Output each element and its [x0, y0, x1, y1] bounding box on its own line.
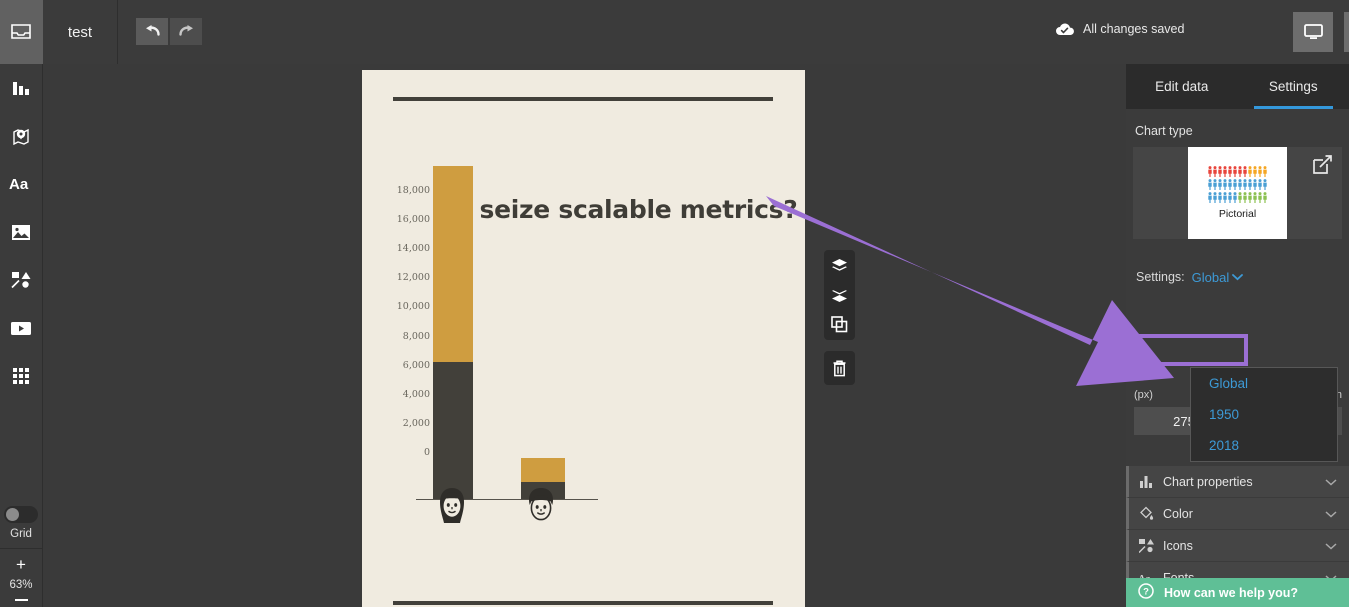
y-axis-tick: 2,000: [403, 418, 430, 429]
duplicate-icon: [831, 316, 848, 333]
accordion-label: Color: [1163, 507, 1193, 521]
grid-toggle[interactable]: [4, 506, 38, 523]
top-bar: test All change: [43, 0, 1349, 64]
edit-chart-type-button[interactable]: [1313, 155, 1332, 179]
y-axis-tick: 16,000: [397, 214, 430, 225]
chart-type-thumbnail[interactable]: Pictorial: [1188, 147, 1287, 239]
bar-chart-icon: [11, 79, 31, 97]
svg-text:Aa: Aa: [9, 176, 29, 192]
settings-scope-dropdown[interactable]: Global19502018: [1190, 367, 1338, 462]
duplicate-button[interactable]: [827, 313, 853, 335]
tab-edit-data[interactable]: Edit data: [1126, 64, 1238, 109]
delete-button[interactable]: [827, 357, 853, 379]
object-toolbar: [824, 250, 855, 340]
pictogram-row: [1208, 166, 1267, 177]
highlight-settings-scope: [1129, 334, 1248, 366]
pictogram-row: [1208, 179, 1267, 190]
redo-icon: [178, 25, 195, 39]
avatar-male: [521, 485, 561, 532]
accordion-icons[interactable]: Icons: [1126, 530, 1349, 562]
accordion-label: Chart properties: [1163, 475, 1253, 489]
help-label: How can we help you?: [1164, 586, 1298, 600]
panel-body: Chart type Pictorial: [1126, 109, 1349, 607]
pictogram-row: [1208, 192, 1267, 203]
undo-icon: [144, 25, 161, 39]
y-axis-tick: 10,000: [397, 301, 430, 312]
settings-panel: Edit dataSettings Chart type Pictorial: [1126, 64, 1349, 607]
paint-bucket-icon: [1138, 506, 1154, 521]
sidebar-item-video[interactable]: [0, 304, 43, 352]
grid-apps-icon: [12, 367, 30, 385]
edit-square-icon: [1313, 155, 1332, 174]
sidebar-item-images[interactable]: [0, 208, 43, 256]
chart-type-label: Chart type: [1126, 109, 1349, 147]
accordion-color[interactable]: Color: [1126, 498, 1349, 530]
text-icon: Aa: [9, 176, 33, 192]
sidebar-item-library[interactable]: [0, 0, 43, 64]
bar-1950-gold: [433, 166, 473, 362]
divider-top: [393, 97, 773, 101]
help-bar[interactable]: ? How can we help you?: [1126, 578, 1349, 607]
video-icon: [10, 321, 32, 336]
map-pin-icon: [11, 126, 31, 146]
bar-chart[interactable]: 18,00016,00014,00012,00010,0008,0006,000…: [388, 185, 598, 530]
accordion-label: Icons: [1163, 539, 1193, 553]
settings-scope-value: Global: [1192, 270, 1230, 285]
y-axis-tick: 12,000: [397, 272, 430, 283]
y-axis-tick: 6,000: [403, 360, 430, 371]
dropdown-option-global[interactable]: Global: [1191, 368, 1337, 399]
y-axis-tick: 14,000: [397, 243, 430, 254]
accordion-chart-properties[interactable]: Chart properties: [1126, 466, 1349, 498]
save-status-label: All changes saved: [1083, 22, 1184, 36]
bar-chart-icon: [1138, 475, 1154, 489]
redo-button[interactable]: [170, 18, 202, 45]
chevron-down-icon: [1325, 507, 1337, 521]
tab-label: Settings: [1269, 79, 1318, 94]
send-to-back-icon: [831, 287, 848, 303]
save-status: All changes saved: [1055, 22, 1184, 36]
zoom-controls: + 63%: [0, 548, 43, 607]
settings-scope-row[interactable]: Settings: Global: [1126, 261, 1349, 293]
zoom-out-button[interactable]: [15, 599, 28, 601]
chart-type-card[interactable]: Pictorial: [1133, 147, 1342, 239]
settings-scope-select[interactable]: Global: [1192, 270, 1244, 285]
panel-tabs: Edit dataSettings: [1126, 64, 1349, 109]
object-delete-toolbar: [824, 351, 855, 385]
y-axis-tick: 0: [424, 447, 430, 458]
left-toolbar: Aa: [0, 0, 43, 607]
pictogram-preview: [1208, 166, 1267, 203]
chevron-down-icon: [1232, 274, 1243, 281]
cloud-check-icon: [1055, 22, 1075, 36]
undo-redo-group: [136, 18, 202, 45]
dropdown-option-1950[interactable]: 1950: [1191, 399, 1337, 430]
y-axis-tick: 18,000: [397, 185, 430, 196]
present-button[interactable]: [1293, 12, 1333, 52]
bring-to-front-button[interactable]: [827, 255, 853, 277]
y-axis-tick: 4,000: [403, 389, 430, 400]
bar-1950-dark: [433, 362, 473, 499]
zoom-in-button[interactable]: +: [16, 556, 26, 573]
send-to-back-button[interactable]: [827, 284, 853, 306]
settings-scope-label: Settings:: [1136, 270, 1185, 284]
infographic-canvas[interactable]: seize scalable metrics? 18,00016,00014,0…: [362, 70, 805, 607]
chart-type-name: Pictorial: [1219, 208, 1256, 220]
document-title[interactable]: test: [43, 0, 118, 64]
grid-toggle-knob: [6, 508, 19, 521]
question-circle-icon: ?: [1138, 583, 1154, 602]
y-axis-tick: 8,000: [403, 331, 430, 342]
download-button[interactable]: Download: [1344, 12, 1349, 52]
image-icon: [11, 224, 31, 241]
tab-label: Edit data: [1155, 79, 1208, 94]
shapes-icon: [11, 271, 31, 289]
grid-label: Grid: [10, 528, 32, 540]
sidebar-item-maps[interactable]: [0, 112, 43, 160]
undo-button[interactable]: [136, 18, 168, 45]
bar-2018-gold: [521, 458, 565, 482]
sidebar-item-apps[interactable]: [0, 352, 43, 400]
sidebar-item-objects[interactable]: [0, 256, 43, 304]
trash-icon: [832, 360, 847, 377]
bar-1950[interactable]: [433, 166, 473, 499]
size-field-label: (px): [1134, 389, 1153, 401]
chevron-down-icon: [1325, 539, 1337, 553]
divider-bottom: [393, 601, 773, 605]
bring-to-front-icon: [831, 258, 848, 274]
svg-text:?: ?: [1143, 587, 1149, 598]
monitor-icon: [1304, 24, 1323, 40]
zoom-level: 63%: [9, 579, 32, 591]
dropdown-option-2018[interactable]: 2018: [1191, 430, 1337, 461]
grid-toggle-group: Grid: [4, 506, 38, 540]
shapes-icon: [1138, 539, 1154, 553]
avatar-female: [432, 485, 472, 532]
sidebar-item-charts[interactable]: [0, 64, 43, 112]
workspace[interactable]: seize scalable metrics? 18,00016,00014,0…: [43, 64, 1126, 607]
chevron-down-icon: [1325, 475, 1337, 489]
sidebar-item-text[interactable]: Aa: [0, 160, 43, 208]
tab-settings[interactable]: Settings: [1238, 64, 1349, 109]
